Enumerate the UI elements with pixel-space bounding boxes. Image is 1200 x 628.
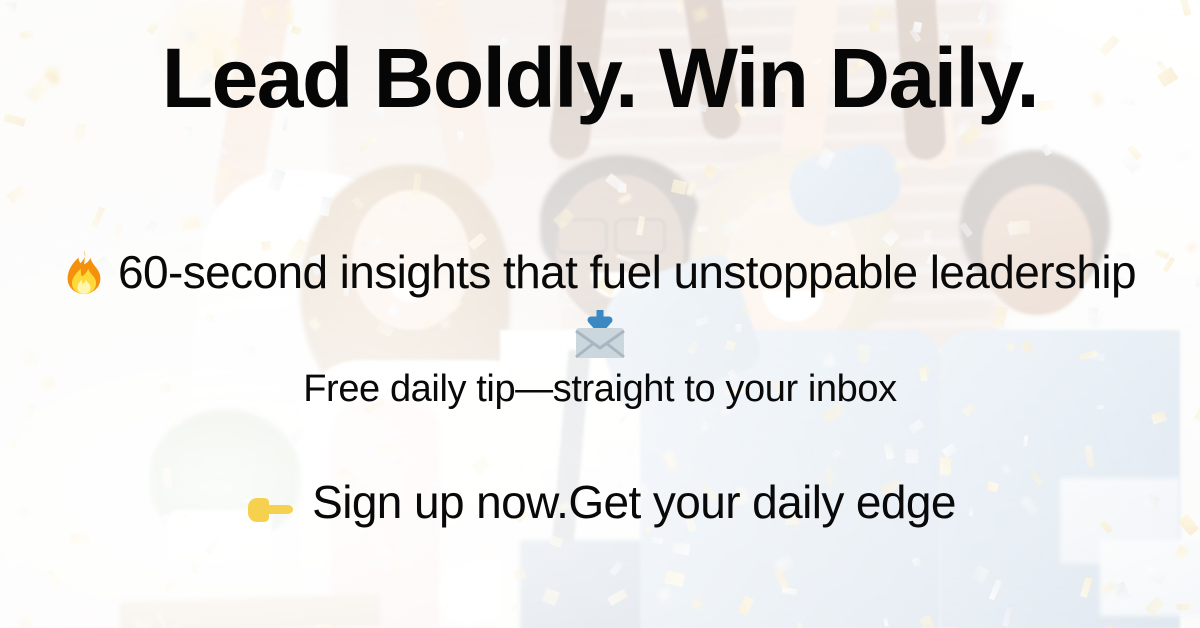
headline: Lead Boldly. Win Daily. (0, 36, 1200, 120)
promo-banner: Lead Boldly. Win Daily. 60-second insigh… (0, 0, 1200, 628)
cta-text: Sign up now.Get your daily edge (312, 476, 956, 529)
hook-line: 60-second insights that fuel unstoppable… (0, 246, 1200, 299)
subline: Free daily tip—straight to your inbox (0, 368, 1200, 412)
pointing-right-hand-icon (244, 485, 294, 519)
cta-line: Sign up now.Get your daily edge (0, 476, 1200, 529)
hook-text: 60-second insights that fuel unstoppable… (118, 246, 1136, 299)
incoming-envelope-icon (0, 308, 1200, 362)
fire-icon (64, 249, 104, 295)
banner-content: Lead Boldly. Win Daily. 60-second insigh… (0, 0, 1200, 628)
